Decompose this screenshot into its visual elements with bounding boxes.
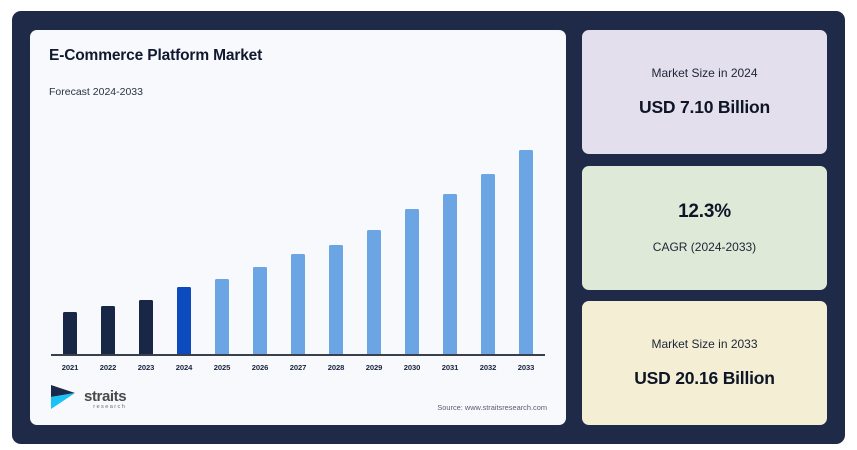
bar-slot-2025: [207, 104, 237, 354]
bar-slot-2023: [131, 104, 161, 354]
stat-card-3: Market Size in 2033USD 20.16 Billion: [582, 301, 827, 425]
x-axis-tick-2032: 2032: [473, 363, 503, 372]
bar-2025: [215, 279, 229, 354]
bar-2024: [177, 287, 191, 354]
bar-slot-2022: [93, 104, 123, 354]
stat-card-2: 12.3%CAGR (2024-2033): [582, 166, 827, 290]
bar-2026: [253, 267, 267, 354]
bar-2031: [443, 194, 457, 354]
chart-footer: straits research Source: www.straitsrese…: [49, 372, 547, 415]
x-axis-tick-2028: 2028: [321, 363, 351, 372]
bar-slot-2028: [321, 104, 351, 354]
arrow-chevron-icon: [49, 384, 79, 415]
chart-subtitle: Forecast 2024-2033: [49, 86, 547, 98]
stat-value: 12.3%: [678, 201, 731, 223]
stat-value: USD 7.10 Billion: [639, 97, 770, 118]
bar-slot-2024: [169, 104, 199, 354]
x-axis-tick-2025: 2025: [207, 363, 237, 372]
bar-slot-2031: [435, 104, 465, 354]
source-attribution: Source: www.straitsresearch.com: [437, 403, 547, 415]
infographic-panel: E-Commerce Platform Market Forecast 2024…: [12, 11, 845, 444]
bar-2033: [519, 150, 533, 354]
bar-slot-2030: [397, 104, 427, 354]
bar-2022: [101, 306, 115, 354]
bar-slot-2021: [55, 104, 85, 354]
x-axis-tick-2027: 2027: [283, 363, 313, 372]
x-axis-tick-2033: 2033: [511, 363, 541, 372]
x-axis-tick-2023: 2023: [131, 363, 161, 372]
x-axis-tick-2030: 2030: [397, 363, 427, 372]
x-axis-tick-2029: 2029: [359, 363, 389, 372]
x-axis-tick-2031: 2031: [435, 363, 465, 372]
stat-label: CAGR (2024-2033): [653, 240, 756, 254]
bar-2032: [481, 174, 495, 354]
x-axis-tick-2024: 2024: [169, 363, 199, 372]
stat-card-1: Market Size in 2024USD 7.10 Billion: [582, 30, 827, 154]
stat-card-list: Market Size in 2024USD 7.10 Billion12.3%…: [582, 30, 827, 425]
chart-title: E-Commerce Platform Market: [49, 47, 547, 65]
x-axis-tick-2026: 2026: [245, 363, 275, 372]
x-axis-tick-2021: 2021: [55, 363, 85, 372]
stat-label: Market Size in 2033: [651, 337, 757, 351]
logo-wordmark: straits research: [84, 389, 126, 411]
bar-2029: [367, 230, 381, 354]
bar-slot-2029: [359, 104, 389, 354]
x-axis-labels: 2021202220232024202520262027202820292030…: [49, 356, 547, 372]
bar-slot-2032: [473, 104, 503, 354]
bar-slot-2027: [283, 104, 313, 354]
x-axis-line: [51, 354, 545, 356]
logo-name: straits: [84, 389, 126, 404]
bar-chart-plot-area: [49, 104, 547, 354]
bar-2027: [291, 254, 305, 354]
bar-slot-2026: [245, 104, 275, 354]
stat-value: USD 20.16 Billion: [634, 368, 775, 389]
bar-2023: [139, 300, 153, 354]
x-axis-tick-2022: 2022: [93, 363, 123, 372]
bar-slot-2033: [511, 104, 541, 354]
infographic-root: E-Commerce Platform Market Forecast 2024…: [0, 0, 857, 450]
stat-label: Market Size in 2024: [651, 66, 757, 80]
straits-research-logo: straits research: [49, 384, 126, 415]
bar-2021: [63, 312, 77, 354]
chart-card: E-Commerce Platform Market Forecast 2024…: [30, 30, 566, 425]
bar-2030: [405, 209, 419, 354]
logo-tagline: research: [84, 405, 126, 411]
bar-2028: [329, 245, 343, 354]
